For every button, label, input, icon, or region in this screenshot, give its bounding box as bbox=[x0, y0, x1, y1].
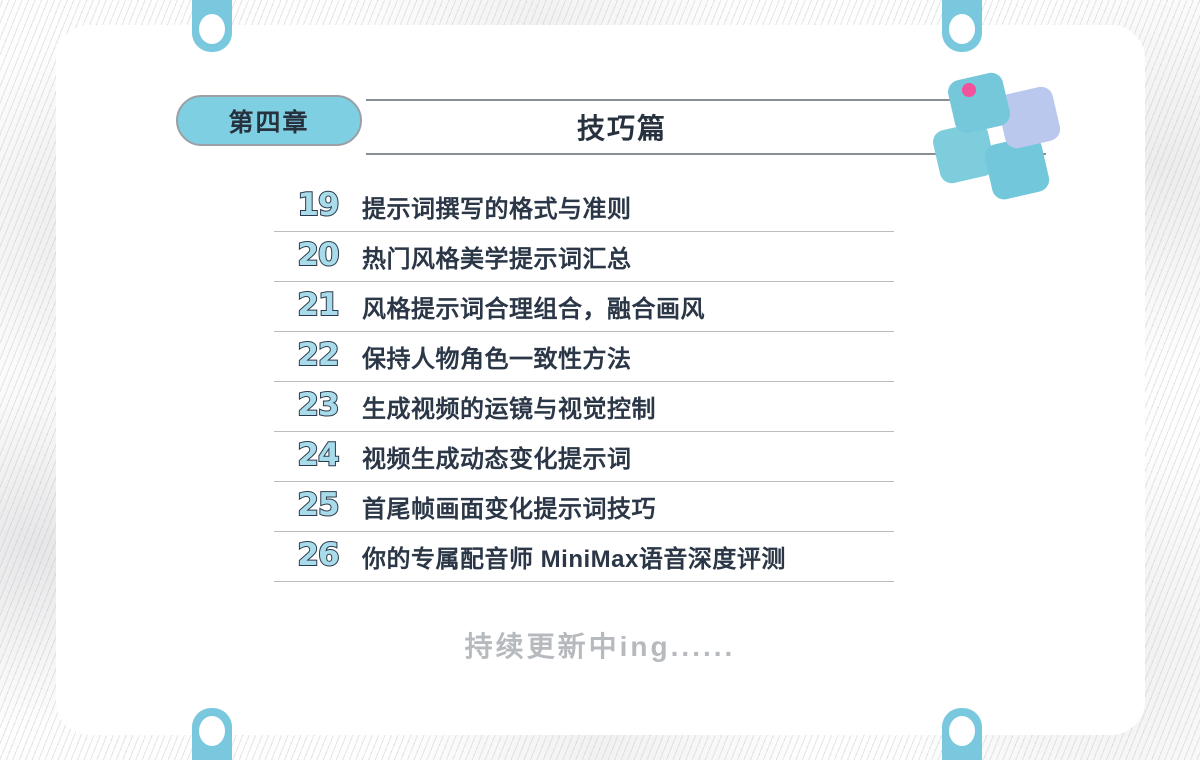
chapter-header: 第四章 技巧篇 bbox=[176, 95, 1026, 163]
binder-clip-top-left bbox=[192, 0, 232, 52]
decorative-squares bbox=[918, 62, 1048, 182]
clip-hole bbox=[949, 14, 975, 44]
toc-row-number: 23 bbox=[274, 390, 362, 424]
toc-row[interactable]: 21 风格提示词合理组合，融合画风 bbox=[274, 282, 894, 332]
toc-row-title: 热门风格美学提示词汇总 bbox=[362, 239, 894, 274]
toc-row[interactable]: 26 你的专属配音师 MiniMax语音深度评测 bbox=[274, 532, 894, 582]
table-of-contents: 19 提示词撰写的格式与准则 20 热门风格美学提示词汇总 21 风格提示词合理… bbox=[274, 182, 894, 582]
chapter-badge: 第四章 bbox=[176, 95, 362, 146]
toc-row-title: 首尾帧画面变化提示词技巧 bbox=[362, 489, 894, 524]
page-background: 第四章 技巧篇 19 提示词撰写的格式与准则 20 热门风格美学提示词汇总 21… bbox=[0, 0, 1200, 760]
toc-row-number: 20 bbox=[274, 240, 362, 274]
toc-row[interactable]: 23 生成视频的运镜与视觉控制 bbox=[274, 382, 894, 432]
toc-row-number: 26 bbox=[274, 540, 362, 574]
toc-row[interactable]: 22 保持人物角色一致性方法 bbox=[274, 332, 894, 382]
clip-hole bbox=[949, 716, 975, 746]
chapter-badge-label: 第四章 bbox=[228, 103, 309, 139]
toc-row-title: 视频生成动态变化提示词 bbox=[362, 439, 894, 474]
update-status-note: 持续更新中ing...... bbox=[0, 625, 1200, 665]
toc-row-title: 你的专属配音师 MiniMax语音深度评测 bbox=[362, 539, 894, 574]
toc-row-title: 生成视频的运镜与视觉控制 bbox=[362, 389, 894, 424]
toc-row[interactable]: 20 热门风格美学提示词汇总 bbox=[274, 232, 894, 282]
binder-clip-top-right bbox=[942, 0, 982, 52]
toc-row[interactable]: 24 视频生成动态变化提示词 bbox=[274, 432, 894, 482]
binder-clip-bottom-right bbox=[942, 708, 982, 760]
toc-row-number: 22 bbox=[274, 340, 362, 374]
toc-row-number: 19 bbox=[274, 190, 362, 224]
clip-hole bbox=[199, 14, 225, 44]
toc-row[interactable]: 25 首尾帧画面变化提示词技巧 bbox=[274, 482, 894, 532]
toc-row-title: 风格提示词合理组合，融合画风 bbox=[362, 289, 894, 324]
toc-row-number: 21 bbox=[274, 290, 362, 324]
toc-row-title: 保持人物角色一致性方法 bbox=[362, 339, 894, 374]
toc-row-number: 24 bbox=[274, 440, 362, 474]
toc-row-number: 25 bbox=[274, 490, 362, 524]
binder-clip-bottom-left bbox=[192, 708, 232, 760]
toc-row-title: 提示词撰写的格式与准则 bbox=[362, 189, 894, 224]
pink-dot-icon bbox=[962, 83, 976, 97]
section-title: 技巧篇 bbox=[492, 101, 752, 153]
clip-hole bbox=[199, 716, 225, 746]
toc-row[interactable]: 19 提示词撰写的格式与准则 bbox=[274, 182, 894, 232]
